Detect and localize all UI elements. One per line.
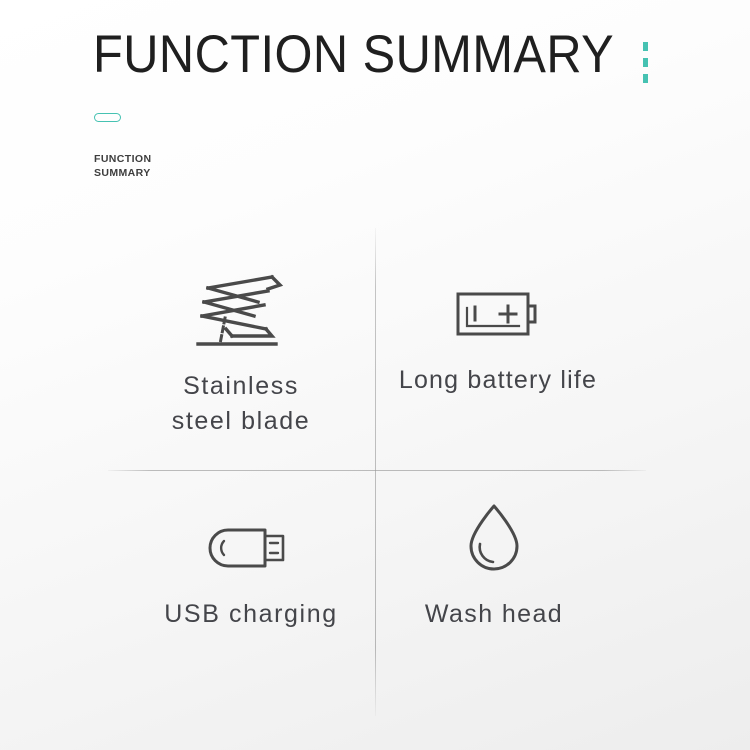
kebab-dot-3 xyxy=(643,74,648,83)
feature-cell-wash-head[interactable]: Wash head xyxy=(329,500,659,632)
kebab-dot-2 xyxy=(643,58,648,67)
water-drop-icon xyxy=(463,500,525,581)
function-summary-page: FUNCTION SUMMARY FUNCTION SUMMARY xyxy=(0,0,750,750)
feature-label-long-battery-life: Long battery life xyxy=(399,363,597,398)
more-vertical-icon[interactable] xyxy=(643,42,648,83)
blade-icon xyxy=(192,266,290,353)
battery-icon xyxy=(455,286,541,347)
page-title: FUNCTION SUMMARY xyxy=(93,28,614,81)
feature-cell-long-battery-life[interactable]: Long battery life xyxy=(333,286,663,398)
feature-label-usb-charging: USB charging xyxy=(164,597,337,632)
feature-grid: Stainless steel blade Long battery life xyxy=(0,228,750,716)
usb-drive-icon xyxy=(206,520,296,581)
feature-label-stainless-steel-blade: Stainless steel blade xyxy=(172,369,311,439)
feature-label-wash-head: Wash head xyxy=(425,597,563,632)
section-eyebrow-label: FUNCTION SUMMARY xyxy=(94,152,151,180)
pill-accent-icon xyxy=(94,113,121,122)
kebab-dot-1 xyxy=(643,42,648,51)
